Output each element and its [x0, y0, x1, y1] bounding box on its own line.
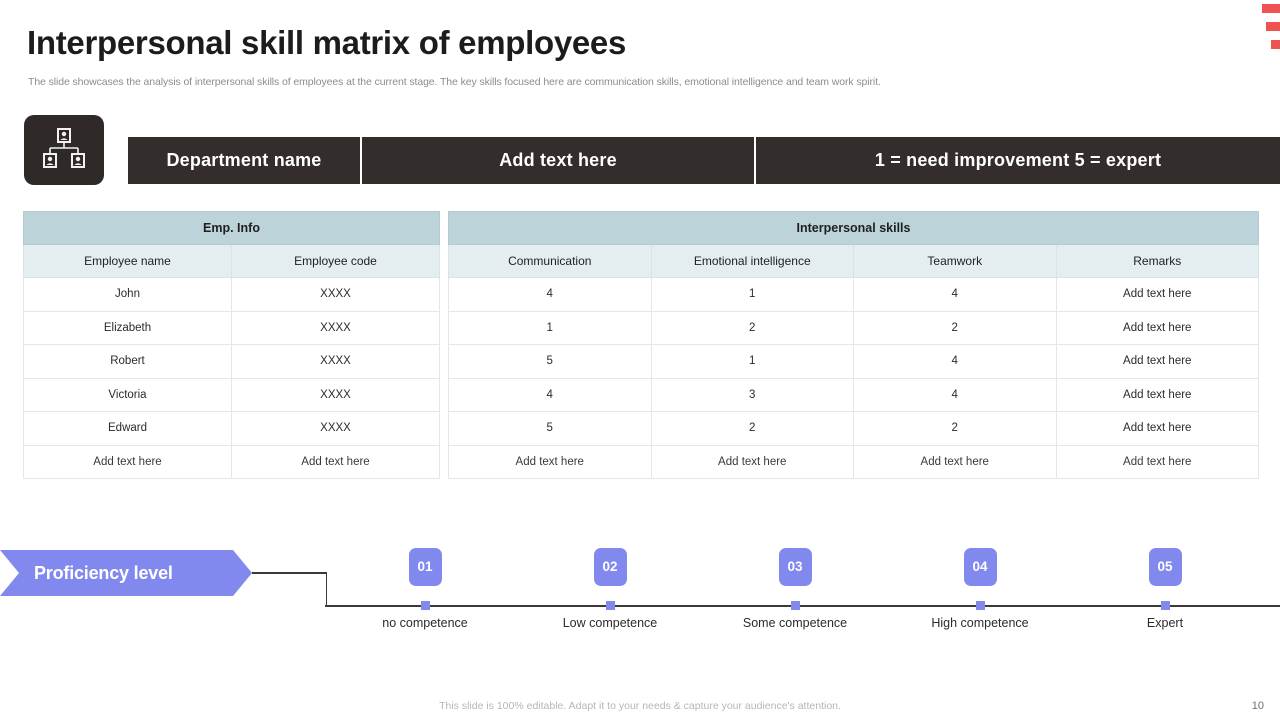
col-employee-code: Employee code [232, 245, 440, 278]
band-cell-legend: 1 = need improvement 5 = expert [754, 137, 1280, 184]
cell-remarks[interactable]: Add text here [1056, 278, 1259, 312]
employee-info-body: JohnXXXX ElizabethXXXX RobertXXXX Victor… [24, 278, 440, 479]
group-header-emp-info: Emp. Info [24, 212, 440, 245]
cell-teamwork: 4 [854, 378, 1057, 412]
org-chart-icon-tile [24, 115, 104, 185]
cell-employee-code: XXXX [232, 412, 440, 446]
cell-employee-name: Robert [24, 345, 232, 379]
cell-emotional-intelligence: 1 [651, 278, 854, 312]
interpersonal-skills-body: 414Add text here 122Add text here 514Add… [449, 278, 1259, 479]
cell-communication: 5 [449, 345, 652, 379]
cell-emotional-intelligence[interactable]: Add text here [651, 445, 854, 479]
cell-communication: 5 [449, 412, 652, 446]
step-marker-dot [421, 601, 430, 610]
step-caption: Some competence [715, 616, 875, 630]
skill-matrix: Emp. Info Employee name Employee code Jo… [23, 211, 1259, 479]
proficiency-level-banner: Proficiency level [0, 550, 252, 596]
timeline-baseline [325, 605, 1280, 607]
table-row: 414Add text here [449, 278, 1259, 312]
band-cell-department: Department name [128, 137, 360, 184]
connector-horizontal [252, 572, 327, 574]
step-marker-dot [606, 601, 615, 610]
cell-communication[interactable]: Add text here [449, 445, 652, 479]
cell-teamwork: 4 [854, 278, 1057, 312]
interpersonal-skills-table: Interpersonal skills Communication Emoti… [448, 211, 1259, 479]
cell-communication: 4 [449, 378, 652, 412]
cell-communication: 4 [449, 278, 652, 312]
table-row: Add text hereAdd text here [24, 445, 440, 479]
cell-emotional-intelligence: 2 [651, 412, 854, 446]
col-communication: Communication [449, 245, 652, 278]
info-band-bar: Department name Add text here 1 = need i… [128, 137, 1280, 184]
step-marker-dot [1161, 601, 1170, 610]
col-remarks: Remarks [1056, 245, 1259, 278]
cell-teamwork: 2 [854, 311, 1057, 345]
org-chart-icon [42, 126, 86, 175]
cell-teamwork: 2 [854, 412, 1057, 446]
band-cell-add-text[interactable]: Add text here [360, 137, 754, 184]
table-row: EdwardXXXX [24, 412, 440, 446]
cell-emotional-intelligence: 2 [651, 311, 854, 345]
cell-remarks[interactable]: Add text here [1056, 378, 1259, 412]
table-row: 434Add text here [449, 378, 1259, 412]
cell-employee-code[interactable]: Add text here [232, 445, 440, 479]
cell-remarks[interactable]: Add text here [1056, 445, 1259, 479]
col-teamwork: Teamwork [854, 245, 1057, 278]
footer-note: This slide is 100% editable. Adapt it to… [0, 700, 1280, 712]
info-band: Department name Add text here 1 = need i… [24, 115, 1280, 185]
corner-mark-1 [1262, 4, 1280, 13]
step-marker-dot [976, 601, 985, 610]
table-row: 522Add text here [449, 412, 1259, 446]
corner-decoration [1254, 4, 1280, 58]
table-group-header-row: Interpersonal skills [449, 212, 1259, 245]
cell-employee-name: Edward [24, 412, 232, 446]
cell-remarks[interactable]: Add text here [1056, 311, 1259, 345]
table-row: 122Add text here [449, 311, 1259, 345]
table-row: Add text hereAdd text hereAdd text hereA… [449, 445, 1259, 479]
cell-employee-code: XXXX [232, 278, 440, 312]
step-badge-number: 03 [779, 548, 812, 586]
table-row: RobertXXXX [24, 345, 440, 379]
table-group-header-row: Emp. Info [24, 212, 440, 245]
cell-remarks[interactable]: Add text here [1056, 412, 1259, 446]
cell-employee-name[interactable]: Add text here [24, 445, 232, 479]
table-row: 514Add text here [449, 345, 1259, 379]
step-badge-number: 04 [964, 548, 997, 586]
cell-remarks[interactable]: Add text here [1056, 345, 1259, 379]
connector-vertical [326, 572, 328, 606]
cell-emotional-intelligence: 1 [651, 345, 854, 379]
page-number: 10 [1252, 700, 1264, 712]
page-title: Interpersonal skill matrix of employees [27, 24, 626, 62]
step-caption: High competence [900, 616, 1060, 630]
cell-teamwork[interactable]: Add text here [854, 445, 1057, 479]
col-employee-name: Employee name [24, 245, 232, 278]
proficiency-step-05[interactable]: 05 Expert [1085, 548, 1245, 586]
table-sub-header-row-left: Employee name Employee code [24, 245, 440, 278]
proficiency-step-04[interactable]: 04 High competence [900, 548, 1060, 586]
proficiency-step-03[interactable]: 03 Some competence [715, 548, 875, 586]
proficiency-step-02[interactable]: 02 Low competence [530, 548, 690, 586]
step-caption: Expert [1085, 616, 1245, 630]
cell-employee-name: Victoria [24, 378, 232, 412]
cell-emotional-intelligence: 3 [651, 378, 854, 412]
step-marker-dot [791, 601, 800, 610]
employee-info-table: Emp. Info Employee name Employee code Jo… [23, 211, 440, 479]
cell-communication: 1 [449, 311, 652, 345]
corner-mark-2 [1266, 22, 1280, 31]
table-row: ElizabethXXXX [24, 311, 440, 345]
cell-employee-name: John [24, 278, 232, 312]
proficiency-step-01[interactable]: 01 no competence [345, 548, 505, 586]
cell-employee-name: Elizabeth [24, 311, 232, 345]
cell-employee-code: XXXX [232, 345, 440, 379]
table-row: JohnXXXX [24, 278, 440, 312]
col-emotional-intelligence: Emotional intelligence [651, 245, 854, 278]
table-sub-header-row-right: Communication Emotional intelligence Tea… [449, 245, 1259, 278]
step-badge-number: 05 [1149, 548, 1182, 586]
cell-teamwork: 4 [854, 345, 1057, 379]
step-badge-number: 01 [409, 548, 442, 586]
table-row: VictoriaXXXX [24, 378, 440, 412]
page-subtitle: The slide showcases the analysis of inte… [28, 76, 881, 88]
proficiency-level-section: Proficiency level 01 no competence 02 Lo… [0, 548, 1280, 648]
group-header-interpersonal-skills: Interpersonal skills [449, 212, 1259, 245]
step-caption: no competence [345, 616, 505, 630]
slide-root: Interpersonal skill matrix of employees … [0, 0, 1280, 720]
cell-employee-code: XXXX [232, 378, 440, 412]
corner-mark-3 [1271, 40, 1280, 49]
step-caption: Low competence [530, 616, 690, 630]
step-badge-number: 02 [594, 548, 627, 586]
cell-employee-code: XXXX [232, 311, 440, 345]
